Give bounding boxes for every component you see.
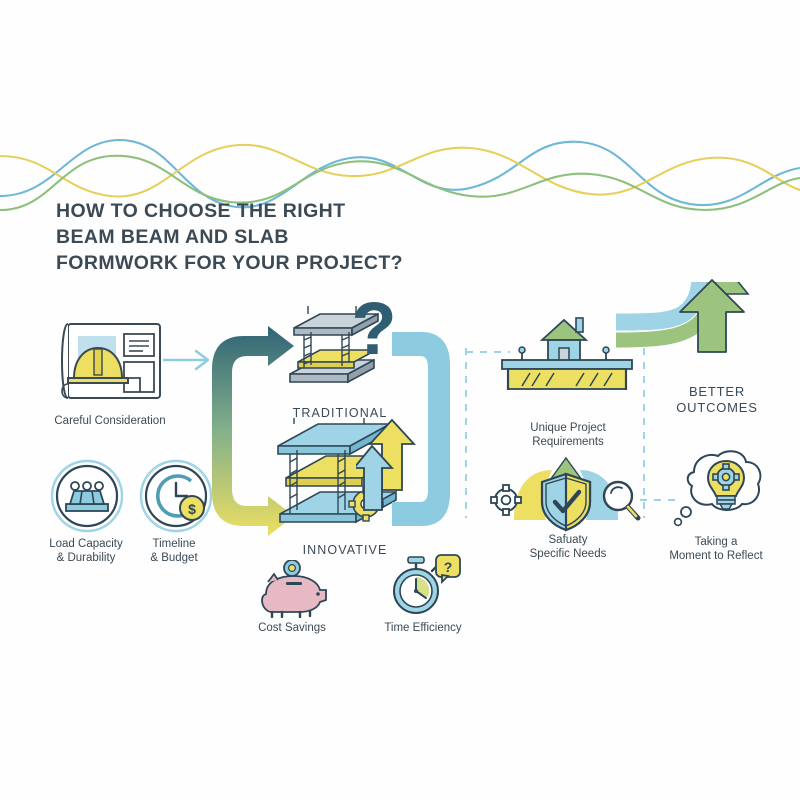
piggy-bank-icon bbox=[252, 560, 334, 618]
caption-safety-line1: Safuaty bbox=[549, 534, 588, 546]
safety-trio-icon bbox=[486, 452, 646, 534]
caption-timeline-line1: Timeline bbox=[152, 538, 195, 550]
lightbulb-gear-thought-icon bbox=[660, 450, 776, 536]
reflect-line2: Moment to Reflect bbox=[669, 550, 762, 562]
caption-load-capacity: Load Capacity & Durability bbox=[30, 537, 142, 565]
clock-coin-icon: $ bbox=[136, 458, 216, 534]
caption-load-line1: Load Capacity bbox=[49, 538, 123, 550]
reflect-line1: Taking a bbox=[695, 536, 738, 548]
better-line2: OUTCOMES bbox=[676, 400, 758, 415]
caption-load-line2: & Durability bbox=[57, 552, 116, 564]
question-mark-glyph: ? bbox=[352, 296, 397, 370]
title-line-1: HOW TO CHOOSE THE RIGHT bbox=[56, 198, 456, 224]
curved-up-arrow-head bbox=[660, 276, 770, 356]
caption-unique-line1: Unique Project bbox=[530, 422, 605, 434]
svg-text:?: ? bbox=[444, 559, 453, 575]
label-better-outcomes: BETTER OUTCOMES bbox=[662, 384, 772, 416]
slab-post-left bbox=[519, 347, 525, 360]
title-line-3: FORMWORK FOR YOUR PROJECT? bbox=[56, 250, 456, 276]
caption-careful-consideration: Careful Consideration bbox=[20, 414, 200, 428]
caption-unique-project: Unique Project Requirements bbox=[498, 421, 638, 449]
svg-text:$: $ bbox=[188, 501, 196, 517]
caption-unique-line2: Requirements bbox=[532, 436, 604, 448]
title-line-2: BEAM BEAM AND SLAB bbox=[56, 224, 456, 250]
page-title: HOW TO CHOOSE THE RIGHT BEAM BEAM AND SL… bbox=[56, 198, 456, 276]
bracket-right-icon bbox=[392, 330, 456, 528]
slab-post-right bbox=[603, 347, 609, 360]
caption-safety-line2: Specific Needs bbox=[530, 548, 607, 560]
better-line1: BETTER bbox=[689, 384, 745, 399]
caption-timeline-line2: & Budget bbox=[150, 552, 197, 564]
stopwatch-question-icon: ? bbox=[384, 553, 464, 619]
caption-safety-needs: Safuaty Specific Needs bbox=[498, 533, 638, 561]
caption-time-efficiency: Time Efficiency bbox=[362, 621, 484, 635]
load-capacity-icon bbox=[44, 458, 130, 534]
caption-taking-moment: Taking a Moment to Reflect bbox=[650, 535, 782, 563]
blueprint-hardhat-icon bbox=[46, 316, 176, 414]
dashed-divider bbox=[462, 348, 470, 518]
caption-cost-savings: Cost Savings bbox=[232, 621, 352, 635]
shield-check-icon bbox=[542, 474, 590, 530]
caption-timeline-budget: Timeline & Budget bbox=[128, 537, 220, 565]
infographic-canvas: HOW TO CHOOSE THE RIGHT BEAM BEAM AND SL… bbox=[0, 0, 800, 800]
